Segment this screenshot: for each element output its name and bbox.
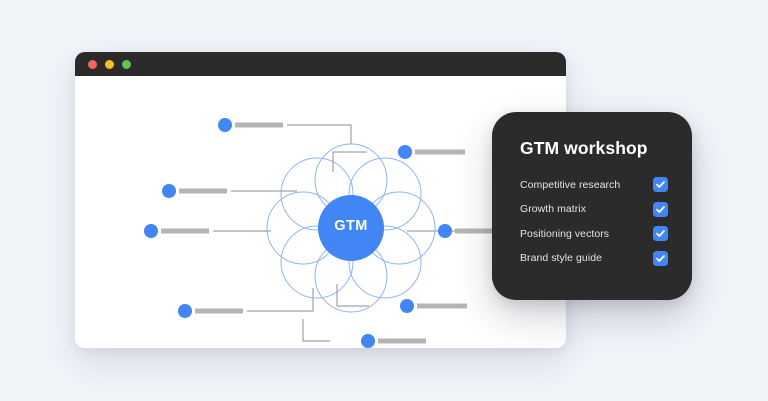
node-dot-bottom-right-upper [400, 299, 414, 313]
connector-top-right [333, 152, 367, 172]
task-label: Growth matrix [520, 203, 586, 215]
task-label: Brand style guide [520, 252, 602, 264]
connector-bottom-left [247, 288, 313, 311]
task-row[interactable]: Brand style guide [520, 251, 668, 266]
task-list: Competitive research Growth matrix Posit… [520, 177, 668, 266]
center-node[interactable] [318, 195, 384, 261]
node-dot-top-left [218, 118, 232, 132]
checkbox-checked-icon[interactable] [653, 251, 668, 266]
node-dot-top-right [398, 145, 412, 159]
task-card: GTM workshop Competitive research Growth… [492, 112, 692, 300]
window-titlebar [75, 52, 566, 76]
node-dot-mid-right [438, 224, 452, 238]
node-dot-bottom-left [178, 304, 192, 318]
task-label: Positioning vectors [520, 228, 609, 240]
task-row[interactable]: Positioning vectors [520, 226, 668, 241]
task-row[interactable]: Competitive research [520, 177, 668, 192]
connector-bottom-right-upper [337, 284, 369, 306]
close-dot[interactable] [88, 60, 97, 69]
minimize-dot[interactable] [105, 60, 114, 69]
node-dot-mid-left-upper [162, 184, 176, 198]
checkbox-checked-icon[interactable] [653, 226, 668, 241]
node-dot-bottom-right-lower [361, 334, 375, 348]
task-row[interactable]: Growth matrix [520, 202, 668, 217]
connector-bottom-right-lower [303, 319, 330, 341]
maximize-dot[interactable] [122, 60, 131, 69]
connector-top-left [287, 125, 351, 144]
checkbox-checked-icon[interactable] [653, 177, 668, 192]
checkbox-checked-icon[interactable] [653, 202, 668, 217]
node-dot-mid-left-lower [144, 224, 158, 238]
task-card-title: GTM workshop [520, 138, 668, 159]
task-label: Competitive research [520, 179, 620, 191]
